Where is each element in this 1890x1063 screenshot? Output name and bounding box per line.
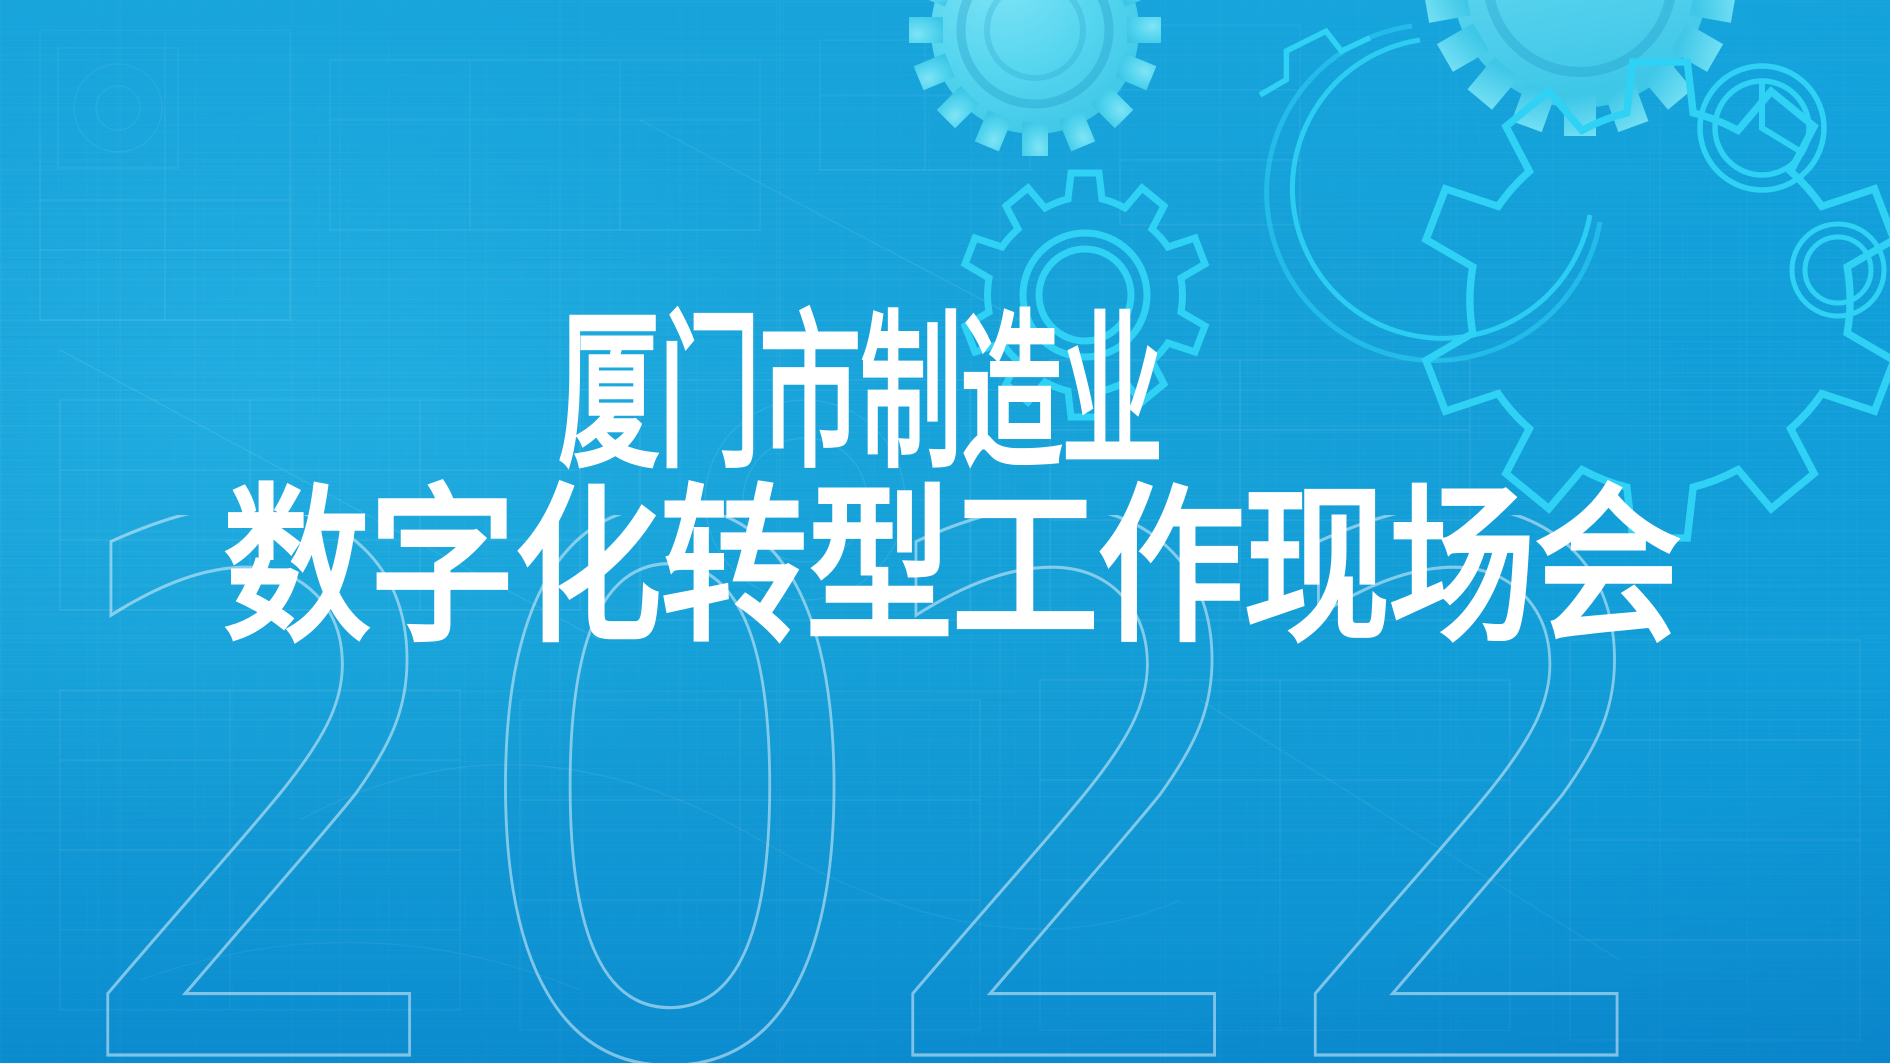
headline-svg: 厦门市制造业 数字化转型工作现场会 [0, 0, 1890, 1063]
title-line-1: 厦门市制造业 [558, 295, 1162, 493]
title-line-2: 数字化转型工作现场会 [223, 469, 1681, 667]
poster-canvas: 2022 厦门市制造业 数字化转型工作现场会 [0, 0, 1890, 1063]
headline-block: 厦门市制造业 数字化转型工作现场会 [0, 0, 1890, 1063]
